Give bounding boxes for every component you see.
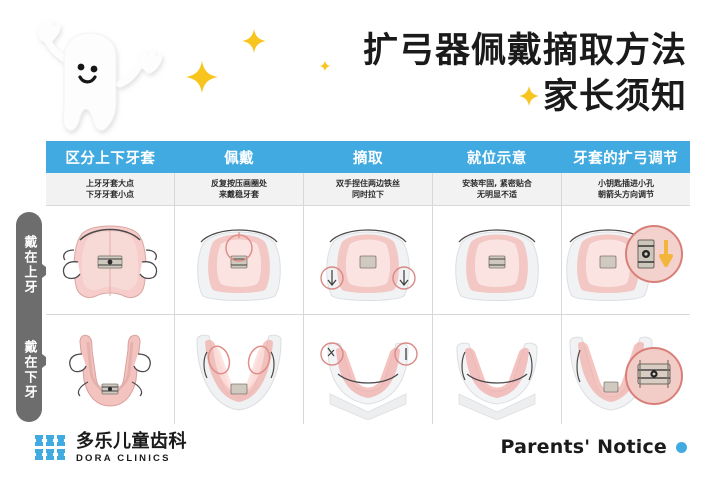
column-header-distinguish: 区分上下牙套 <box>46 141 175 173</box>
parents-notice-label: Parents' Notice <box>500 436 667 458</box>
table-row-upper <box>46 206 690 315</box>
instruction-table: 区分上下牙套 佩戴 摘取 就位示意 牙套的扩弓调节 上牙牙套大点 下牙牙套小点 … <box>46 141 690 424</box>
poster-title: 扩弓器佩戴摘取方法 家长须知 <box>363 28 687 120</box>
upper-model-seated-photo <box>433 206 562 314</box>
subheader-line-2: 下牙牙套小点 <box>86 189 134 200</box>
subheader-line-2: 无明显不适 <box>477 189 517 200</box>
brand-name-en: DORA CLINICS <box>76 453 187 464</box>
dora-clinics-mark-icon <box>34 433 68 463</box>
poster-footer: 多乐儿童齿科 DORA CLINICS Parents' Notice <box>0 424 707 500</box>
subheader-line-1: 小钥匙插进小孔 <box>598 178 654 189</box>
lower-model-press-circle-photo <box>175 315 304 424</box>
poster-header: 扩弓器佩戴摘取方法 家长须知 <box>0 0 707 140</box>
upper-expander-appliance-photo <box>46 206 175 314</box>
table-row-lower <box>46 315 690 424</box>
column-subheader-remove: 双手捏住两边铁丝 同时拉下 <box>304 173 433 205</box>
tooth-mascot-icon <box>28 14 198 144</box>
table-subheader-row: 上牙牙套大点 下牙牙套小点 反复按压画圈处 来戴稳牙套 双手捏住两边铁丝 同时拉… <box>46 173 690 206</box>
column-subheader-seating: 安装牢固, 紧密贴合 无明显不适 <box>433 173 562 205</box>
star-icon <box>185 60 219 94</box>
brand-logo: 多乐儿童齿科 DORA CLINICS <box>34 432 187 464</box>
subheader-line-2: 同时拉下 <box>352 189 384 200</box>
brand-text: 多乐儿童齿科 DORA CLINICS <box>76 432 187 464</box>
upper-model-press-circle-photo <box>175 206 304 314</box>
row-label-lower: 戴在下牙 <box>23 340 36 400</box>
title-line-secondary: 家长须知 <box>363 74 687 120</box>
upper-model-key-adjust-photo <box>562 206 690 314</box>
notice-dot-icon <box>676 442 687 453</box>
lower-model-removal-grip-photo <box>304 315 433 424</box>
column-subheader-adjust: 小钥匙插进小孔 朝箭头方向调节 <box>562 173 690 205</box>
column-header-seating: 就位示意 <box>432 141 561 173</box>
star-icon <box>319 60 331 72</box>
upper-model-removal-grip-photo <box>304 206 433 314</box>
subheader-line-2: 来戴稳牙套 <box>219 189 259 200</box>
subheader-line-1: 反复按压画圈处 <box>211 178 267 189</box>
title-line-primary: 扩弓器佩戴摘取方法 <box>363 28 687 74</box>
column-subheader-distinguish: 上牙牙套大点 下牙牙套小点 <box>46 173 175 205</box>
table-header-row: 区分上下牙套 佩戴 摘取 就位示意 牙套的扩弓调节 <box>46 141 690 173</box>
lower-model-key-adjust-photo <box>562 315 690 424</box>
row-label-rail: 戴在上牙 戴在下牙 <box>16 212 42 422</box>
column-header-remove: 摘取 <box>304 141 433 173</box>
lower-expander-appliance-photo <box>46 315 175 424</box>
column-header-wear: 佩戴 <box>175 141 304 173</box>
infographic-poster: 扩弓器佩戴摘取方法 家长须知 戴在上牙 戴在下牙 区分上下牙套 佩戴 摘取 就位… <box>0 0 707 500</box>
lower-model-seated-photo <box>433 315 562 424</box>
brand-name-cn: 多乐儿童齿科 <box>76 432 187 451</box>
column-subheader-wear: 反复按压画圈处 来戴稳牙套 <box>175 173 304 205</box>
parents-notice-block: Parents' Notice <box>500 436 687 458</box>
subheader-line-1: 双手捏住两边铁丝 <box>336 178 400 189</box>
subheader-line-1: 上牙牙套大点 <box>86 178 134 189</box>
row-label-upper: 戴在上牙 <box>23 235 36 295</box>
subheader-line-2: 朝箭头方向调节 <box>598 189 654 200</box>
subheader-line-1: 安装牢固, 紧密贴合 <box>462 178 532 189</box>
column-header-adjust: 牙套的扩弓调节 <box>561 141 690 173</box>
star-icon <box>241 28 267 54</box>
